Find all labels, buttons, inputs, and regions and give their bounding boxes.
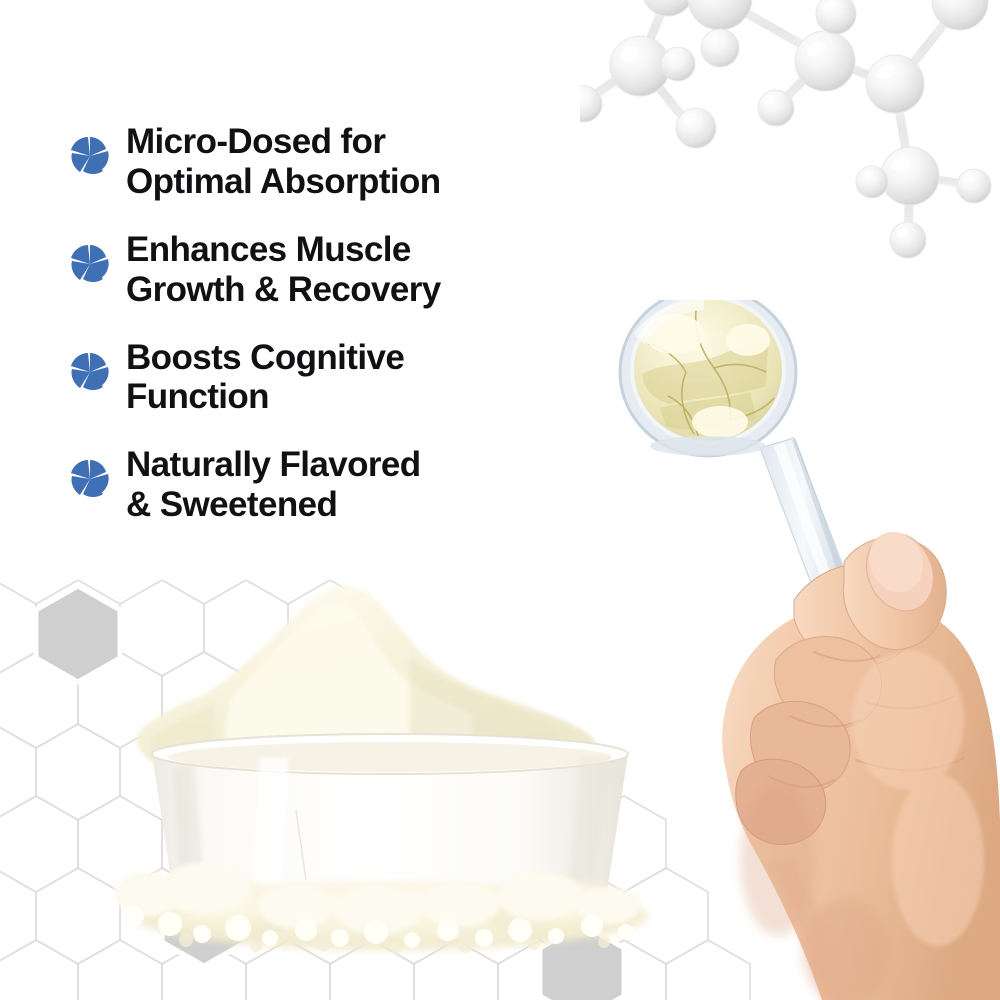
pinwheel-bullet-icon bbox=[70, 352, 110, 392]
molecule-graphic bbox=[580, 0, 1000, 286]
pinwheel-bullet-icon bbox=[70, 244, 110, 284]
protein-powder-tub bbox=[110, 558, 670, 958]
infographic-canvas: Micro-Dosed for Optimal Absorption Enhan… bbox=[0, 0, 1000, 1000]
benefits-list: Micro-Dosed for Optimal Absorption Enhan… bbox=[70, 120, 590, 525]
benefit-label: Boosts Cognitive Function bbox=[126, 336, 404, 418]
benefit-label: Micro-Dosed for Optimal Absorption bbox=[126, 120, 441, 202]
benefit-label: Enhances Muscle Growth & Recovery bbox=[126, 228, 441, 310]
hand-holding-scoop bbox=[608, 300, 1000, 1000]
benefit-label: Naturally Flavored & Sweetened bbox=[126, 443, 421, 525]
pinwheel-bullet-icon bbox=[70, 459, 110, 499]
benefit-item-muscle-growth: Enhances Muscle Growth & Recovery bbox=[70, 228, 590, 310]
benefit-item-cognitive: Boosts Cognitive Function bbox=[70, 336, 590, 418]
pinwheel-bullet-icon bbox=[70, 136, 110, 176]
benefit-item-flavor: Naturally Flavored & Sweetened bbox=[70, 443, 590, 525]
benefit-item-micro-dosed: Micro-Dosed for Optimal Absorption bbox=[70, 120, 590, 202]
